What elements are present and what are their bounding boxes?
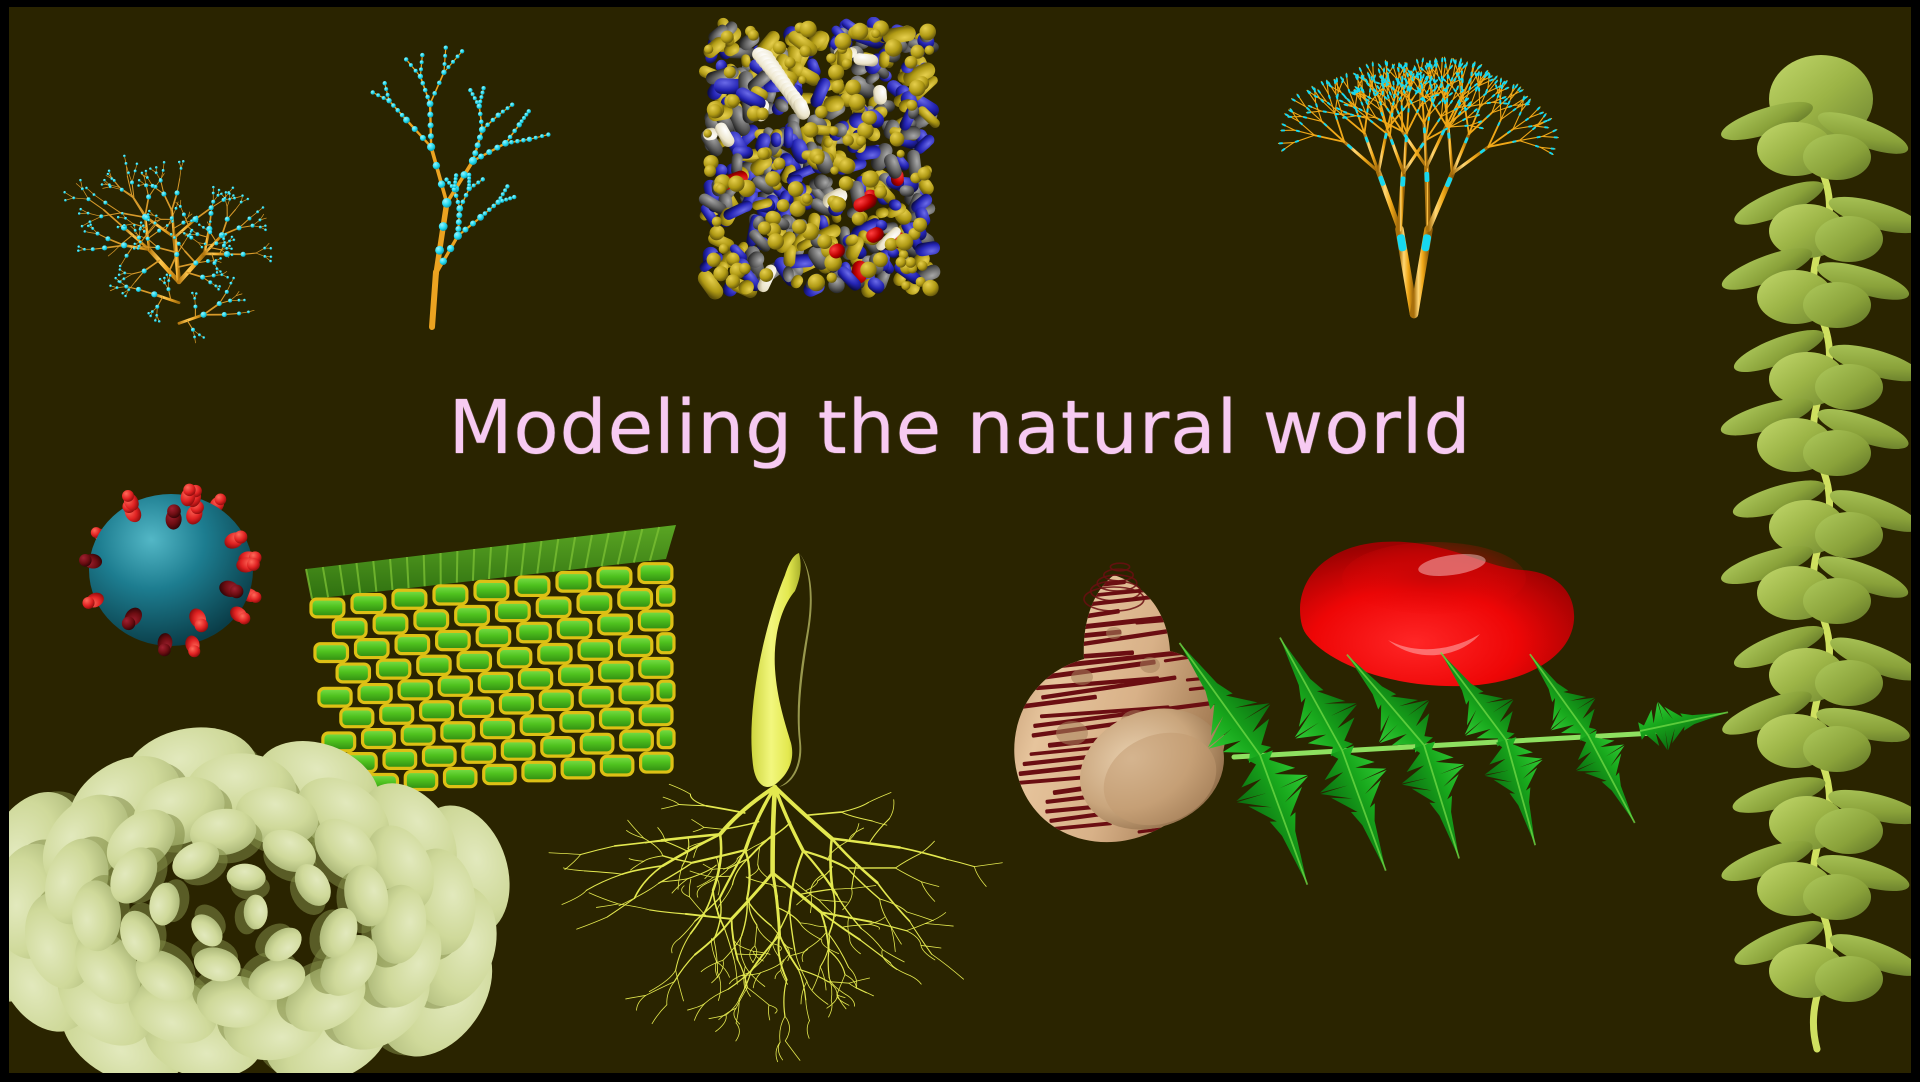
figure-vine [1709,47,1911,1022]
figure-red-blood-cell [1284,512,1584,702]
figure-fan-fractal [1189,12,1639,322]
figure-virus [64,462,279,667]
branching-tree-svg [29,12,329,382]
poster-root: Modeling the natural world [0,0,1920,1082]
compound-leaf-svg [1224,697,1674,1047]
rbc-body [1300,542,1574,687]
page-title: Modeling the natural world [9,391,1911,465]
poster-canvas: Modeling the natural world [9,7,1911,1073]
protein-atoms [695,14,943,303]
figure-succulent [29,762,469,1072]
vine-structure [1717,55,1911,1049]
figure-root-system [649,547,969,1047]
fan-branches [1278,57,1558,314]
sparse-branch-skeleton [371,45,551,327]
succulent-svg [29,762,469,1072]
figure-sparse-branch [364,22,614,332]
blood-cell-svg [1284,512,1584,702]
fan-fractal-svg [1189,12,1639,322]
figure-compound-leaf [1224,697,1674,1047]
virus-svg [64,462,279,667]
root-svg [649,547,969,1047]
tissue-cells [306,525,676,795]
sparse-branch-svg [364,22,614,332]
succulent-leaves [9,715,525,1073]
figure-branching-tree [29,12,329,382]
rbc-dimple [1342,542,1526,614]
figure-protein [669,7,969,317]
vine-svg [1709,47,1911,1022]
tree-skeleton [63,155,272,382]
protein-svg [669,7,969,317]
